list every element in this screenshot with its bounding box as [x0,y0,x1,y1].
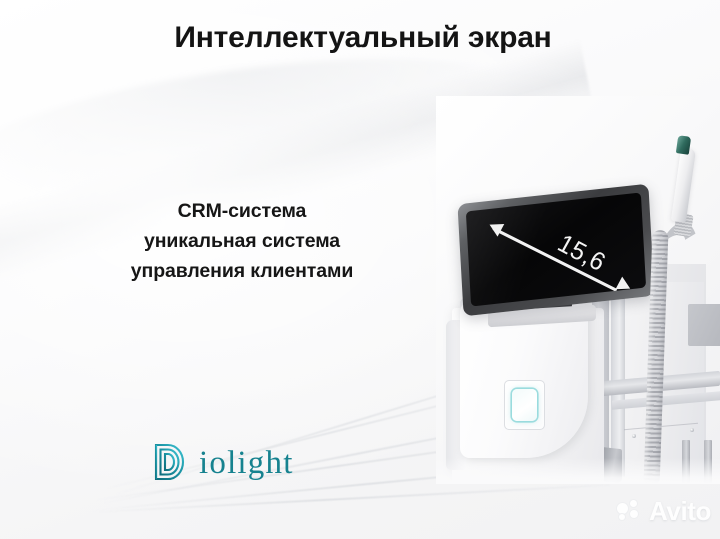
d-monogram-icon [152,441,190,483]
monitor-display[interactable]: 15,6 [466,193,646,307]
avito-dots-icon [617,500,643,522]
screenshot-canvas: Интеллектуальный экран CRM-система уника… [0,0,720,539]
feature-line-2: уникальная система [62,226,422,256]
feature-line-3: управления клиентами [62,256,422,286]
feature-description: CRM-система уникальная система управлени… [62,196,422,286]
panel-screw [632,434,636,438]
device-emblem-glow [512,389,537,421]
device-emblem-button[interactable] [504,380,545,430]
page-title: Интеллектуальный экран [0,20,720,56]
avito-watermark: Avito [617,498,711,524]
screen-size-label: 15,6 [552,229,610,278]
avito-wordmark: Avito [649,498,711,524]
product-photo: 15,6 [436,96,720,484]
handpiece-tip-icon [676,135,691,155]
device-leg [704,440,712,484]
touchscreen-monitor[interactable]: 15,6 [457,184,654,317]
screen-glare [466,193,568,307]
panel-screw [690,428,694,432]
device-leg [682,440,690,484]
brand-wordmark: iolight [199,447,294,480]
device-rear-block [688,304,720,346]
feature-line-1: CRM-система [62,196,422,226]
brand-logo: iolight [152,441,294,483]
